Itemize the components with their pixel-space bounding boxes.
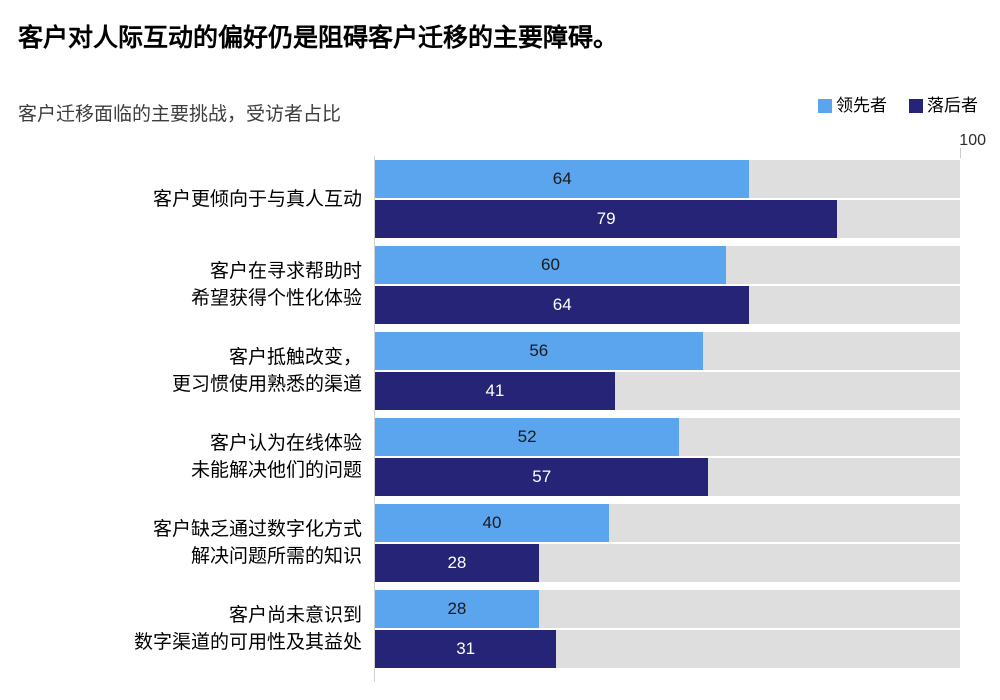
bar-fill-laggard[interactable] [375,372,615,410]
bar-fill-leader[interactable] [375,160,749,198]
category-label: 客户缺乏通过数字化方式解决问题所需的知识 [0,502,362,584]
bar-fill-leader[interactable] [375,332,703,370]
bar-pair: 4028 [375,502,960,584]
bar-track-laggard: 28 [375,544,960,582]
bar-fill-laggard[interactable] [375,630,556,668]
bar-track-leader: 60 [375,246,960,284]
bar-pair: 2831 [375,588,960,670]
category-label-line: 希望获得个性化体验 [191,285,362,312]
legend-swatch-laggard-icon [909,99,923,113]
bar-fill-leader[interactable] [375,418,679,456]
bar-fill-laggard[interactable] [375,458,708,496]
bar-group: 客户缺乏通过数字化方式解决问题所需的知识4028 [0,502,1000,584]
category-label: 客户在寻求帮助时希望获得个性化体验 [0,244,362,326]
bar-track-laggard: 31 [375,630,960,668]
legend-swatch-leader-icon [818,99,832,113]
category-label-line: 数字渠道的可用性及其益处 [134,629,362,656]
chart-subtitle: 客户迁移面临的主要挑战，受访者占比 [18,99,341,126]
bar-pair: 5641 [375,330,960,412]
bar-track-laggard: 41 [375,372,960,410]
category-label-line: 更习惯使用熟悉的渠道 [172,371,362,398]
bar-track-laggard: 64 [375,286,960,324]
bar-group: 客户更倾向于与真人互动6479 [0,158,1000,240]
chart-legend: 领先者 落后者 [818,97,978,114]
bar-fill-laggard[interactable] [375,200,837,238]
category-label-line: 客户更倾向于与真人互动 [153,186,362,213]
category-label-line: 解决问题所需的知识 [191,543,362,570]
bar-track-laggard: 79 [375,200,960,238]
category-label: 客户抵触改变，更习惯使用熟悉的渠道 [0,330,362,412]
legend-item-leader[interactable]: 领先者 [818,97,887,114]
bar-group: 客户在寻求帮助时希望获得个性化体验6064 [0,244,1000,326]
bar-track-laggard: 57 [375,458,960,496]
bar-fill-laggard[interactable] [375,544,539,582]
bar-group: 客户认为在线体验未能解决他们的问题5257 [0,416,1000,498]
category-label-line: 未能解决他们的问题 [191,457,362,484]
bar-track-leader: 64 [375,160,960,198]
bar-pair: 6479 [375,158,960,240]
bar-group: 客户抵触改变，更习惯使用熟悉的渠道5641 [0,330,1000,412]
category-label-line: 客户抵触改变， [229,344,362,371]
bar-track-leader: 52 [375,418,960,456]
bar-fill-laggard[interactable] [375,286,749,324]
bar-fill-leader[interactable] [375,504,609,542]
category-label: 客户认为在线体验未能解决他们的问题 [0,416,362,498]
page-title: 客户对人际互动的偏好仍是阻碍客户迁移的主要障碍。 [18,18,618,54]
legend-item-laggard[interactable]: 落后者 [909,97,978,114]
bar-pair: 5257 [375,416,960,498]
bar-track-leader: 40 [375,504,960,542]
bar-pair: 6064 [375,244,960,326]
category-label: 客户更倾向于与真人互动 [0,158,362,240]
bar-fill-leader[interactable] [375,590,539,628]
axis-max-label: 100 [0,132,986,150]
bar-fill-leader[interactable] [375,246,726,284]
category-label-line: 客户认为在线体验 [210,430,362,457]
category-label-line: 客户缺乏通过数字化方式 [153,516,362,543]
bar-track-leader: 56 [375,332,960,370]
chart-plot-area: 客户更倾向于与真人互动6479客户在寻求帮助时希望获得个性化体验6064客户抵触… [0,156,1000,686]
legend-label-leader: 领先者 [836,97,887,114]
category-label-line: 客户在寻求帮助时 [210,258,362,285]
legend-label-laggard: 落后者 [927,97,978,114]
bar-group: 客户尚未意识到数字渠道的可用性及其益处2831 [0,588,1000,670]
category-label-line: 客户尚未意识到 [229,602,362,629]
category-label: 客户尚未意识到数字渠道的可用性及其益处 [0,588,362,670]
bar-track-leader: 28 [375,590,960,628]
